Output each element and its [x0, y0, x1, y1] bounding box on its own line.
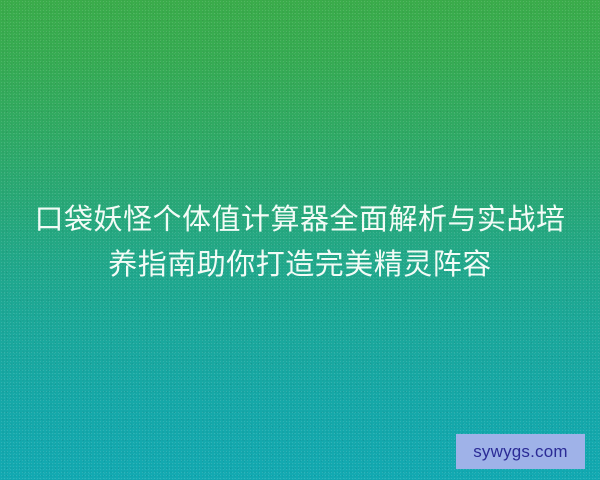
banner-title-line-2: 养指南助你打造完美精灵阵容	[14, 242, 586, 287]
watermark-label: sywygs.com	[473, 443, 568, 460]
banner-image: 口袋妖怪个体值计算器全面解析与实战培 养指南助你打造完美精灵阵容 sywygs.…	[0, 0, 600, 480]
banner-title-line-1: 口袋妖怪个体值计算器全面解析与实战培	[14, 197, 586, 242]
watermark-badge[interactable]: sywygs.com	[456, 434, 585, 469]
banner-title: 口袋妖怪个体值计算器全面解析与实战培 养指南助你打造完美精灵阵容	[0, 197, 600, 287]
